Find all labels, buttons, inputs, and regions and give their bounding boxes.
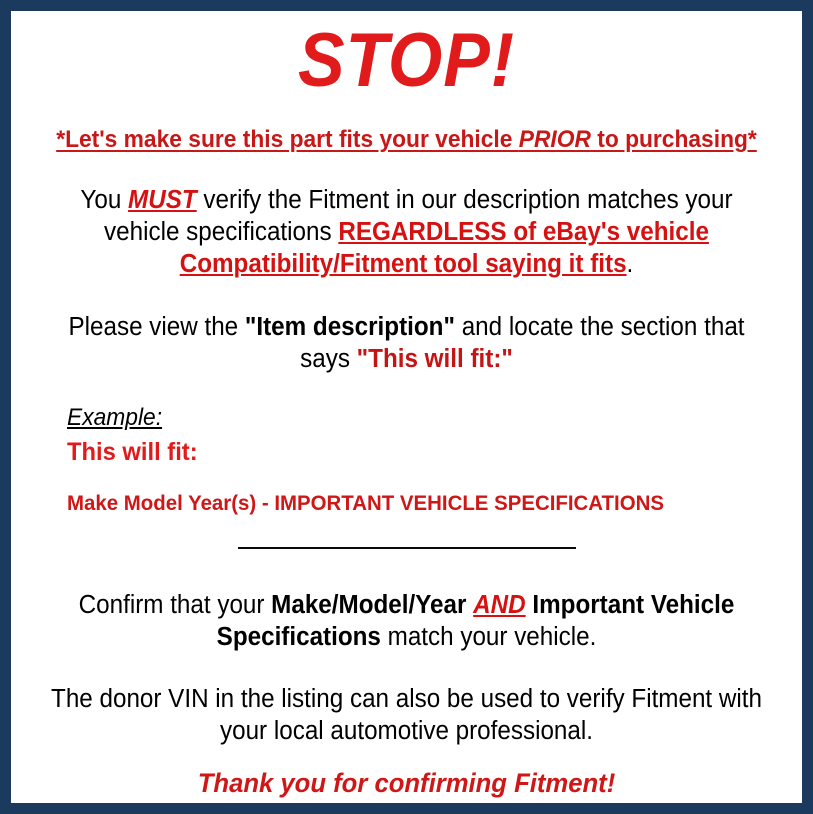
and-emphasis: AND — [473, 591, 525, 619]
example-label: Example: — [67, 403, 162, 433]
item-description-paragraph: Please view the "Item description" and l… — [42, 281, 771, 375]
vin-paragraph: The donor VIN in the listing can also be… — [42, 653, 771, 747]
must-emphasis: MUST — [128, 186, 197, 214]
horizontal-divider — [238, 547, 576, 549]
confirm-part-3 — [526, 591, 533, 619]
confirm-part-4: match your vehicle. — [381, 623, 596, 651]
notice-content: STOP! *Let's make sure this part fits yo… — [11, 11, 802, 803]
confirm-part-2 — [466, 591, 473, 619]
item-description-emphasis: "Item description" — [245, 313, 455, 341]
divider-row — [23, 517, 790, 557]
thank-you-line: Thank you for confirming Fitment! — [42, 747, 771, 799]
must-part-3: . — [627, 250, 634, 278]
tagline-suffix: to purchasing* — [591, 126, 757, 153]
item-desc-part-1: Please view the — [68, 313, 244, 341]
must-verify-paragraph: You MUST verify the Fitment in our descr… — [42, 154, 771, 280]
must-part-1: You — [80, 186, 128, 214]
tagline-emphasis-prior: PRIOR — [519, 126, 591, 153]
fitment-notice-card: STOP! *Let's make sure this part fits yo… — [0, 0, 813, 814]
this-will-fit-emphasis: "This will fit:" — [357, 345, 513, 373]
tagline-prefix: *Let's make sure this part fits your veh… — [56, 126, 519, 153]
example-this-will-fit: This will fit: — [67, 437, 754, 468]
make-model-year-emphasis: Make/Model/Year — [271, 591, 466, 619]
example-vehicle-spec-line: Make Model Year(s) - IMPORTANT VEHICLE S… — [67, 490, 754, 517]
tagline: *Let's make sure this part fits your veh… — [50, 101, 763, 154]
confirm-paragraph: Confirm that your Make/Model/Year AND Im… — [42, 557, 771, 653]
confirm-part-1: Confirm that your — [79, 591, 272, 619]
stop-headline: STOP! — [54, 11, 760, 101]
example-block: Example: This will fit: Make Model Year(… — [23, 375, 790, 517]
